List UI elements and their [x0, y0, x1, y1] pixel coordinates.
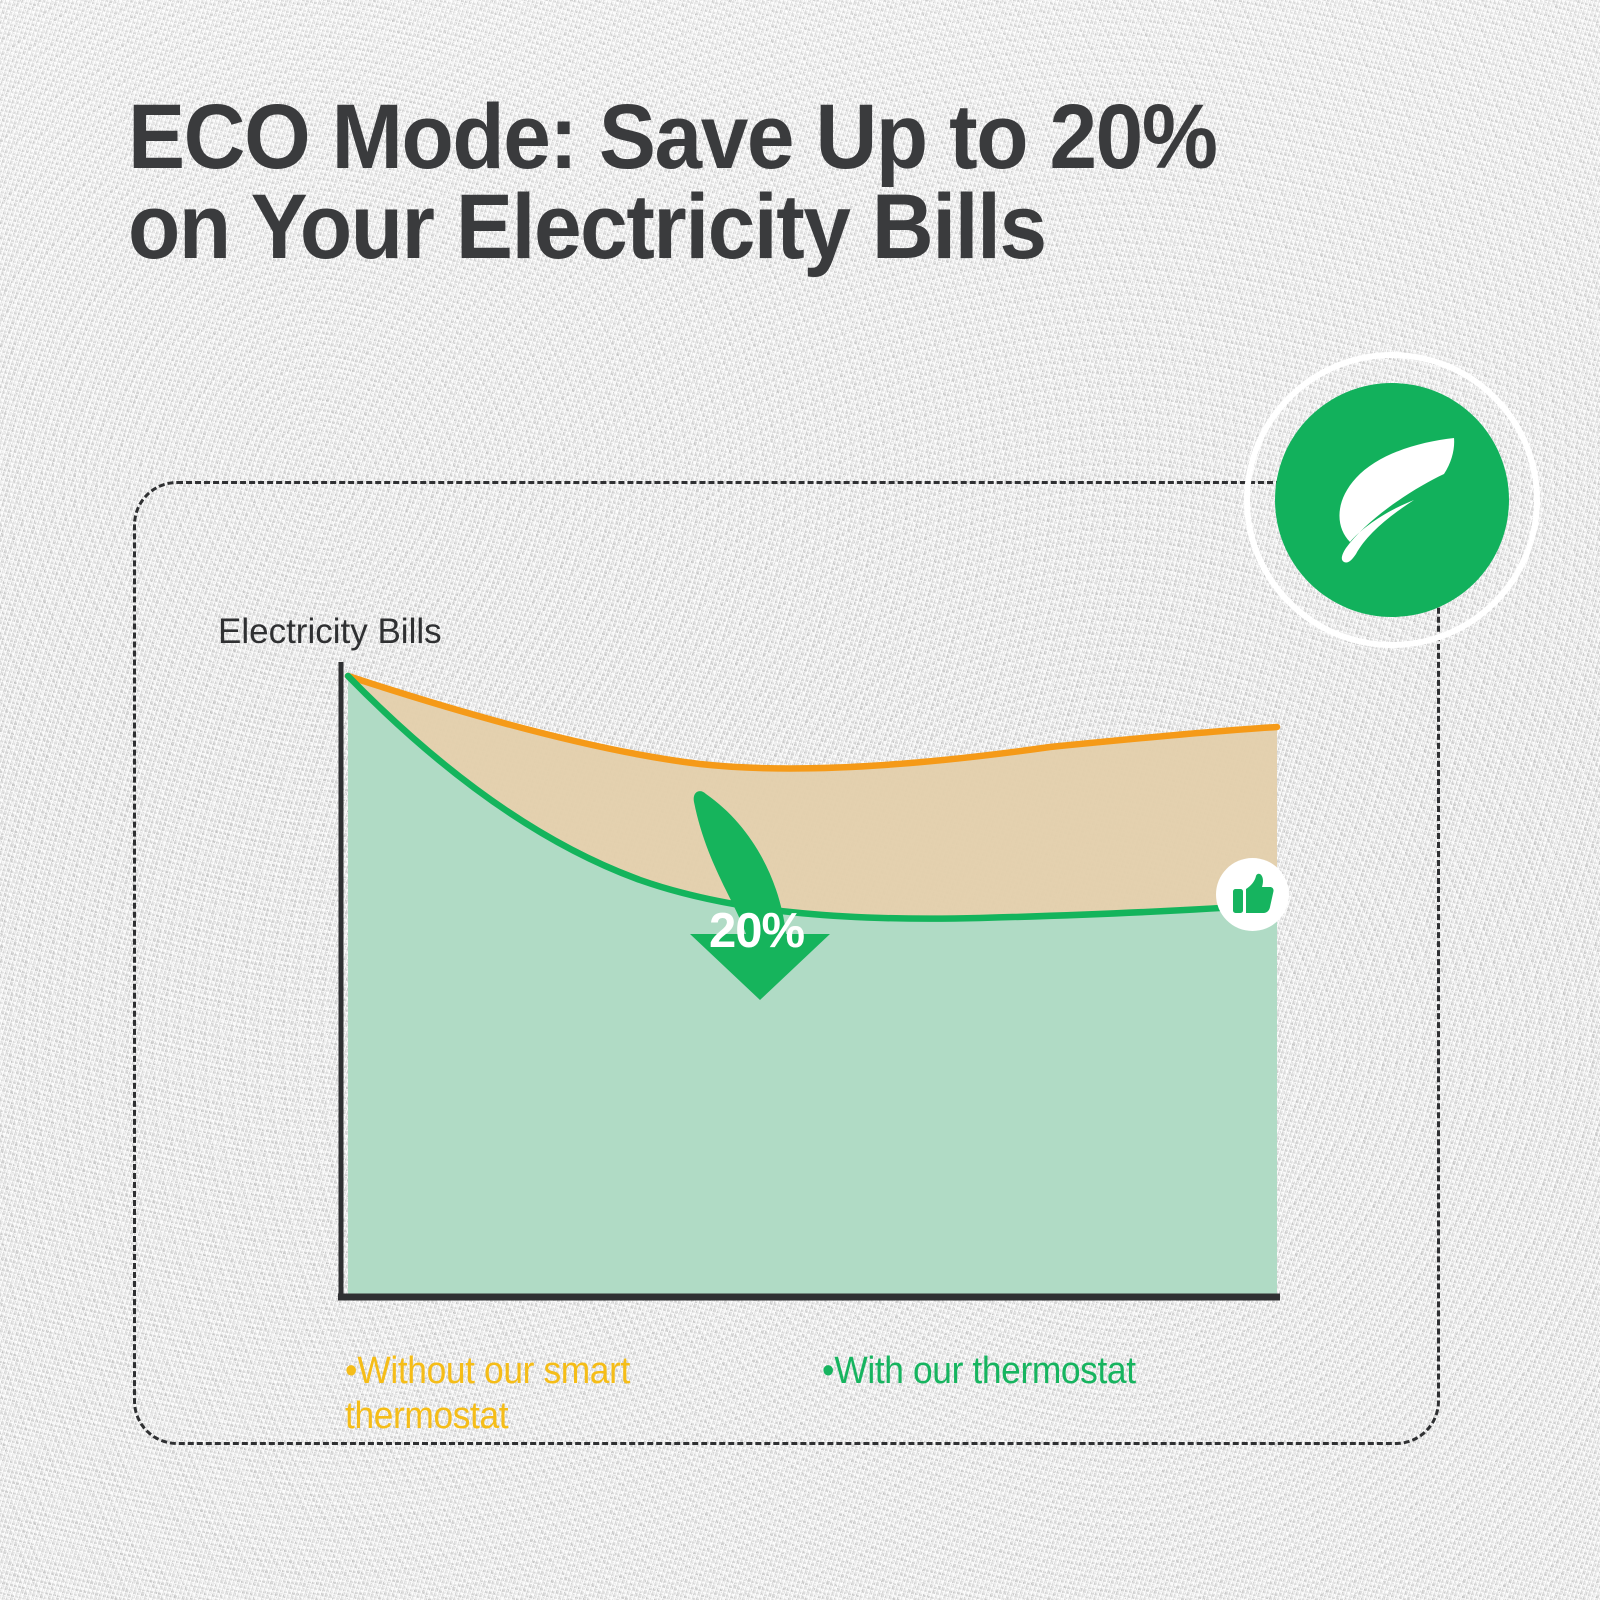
thumbs-up-badge[interactable] — [1216, 858, 1289, 931]
legend-bullet-without: • — [345, 1350, 357, 1392]
chart-y-axis-label: Electricity Bills — [218, 612, 442, 652]
legend-label-with: With our thermostat — [834, 1350, 1135, 1392]
legend-item-with-thermostat[interactable]: •With our thermostat — [822, 1305, 1259, 1394]
savings-percent-label: 20% — [709, 903, 804, 959]
page-title: ECO Mode: Save Up to 20% on Your Electri… — [128, 92, 1374, 272]
legend-item-without-thermostat[interactable]: •Without our smart thermostat — [345, 1305, 745, 1438]
eco-leaf-badge[interactable] — [1244, 352, 1540, 648]
thumbs-up-icon — [1232, 873, 1274, 915]
poster-root: ECO Mode: Save Up to 20% on Your Electri… — [0, 0, 1600, 1600]
legend-label-without: Without our smart thermostat — [345, 1350, 630, 1436]
legend-bullet-with: • — [822, 1350, 834, 1392]
leaf-icon — [1322, 432, 1462, 568]
